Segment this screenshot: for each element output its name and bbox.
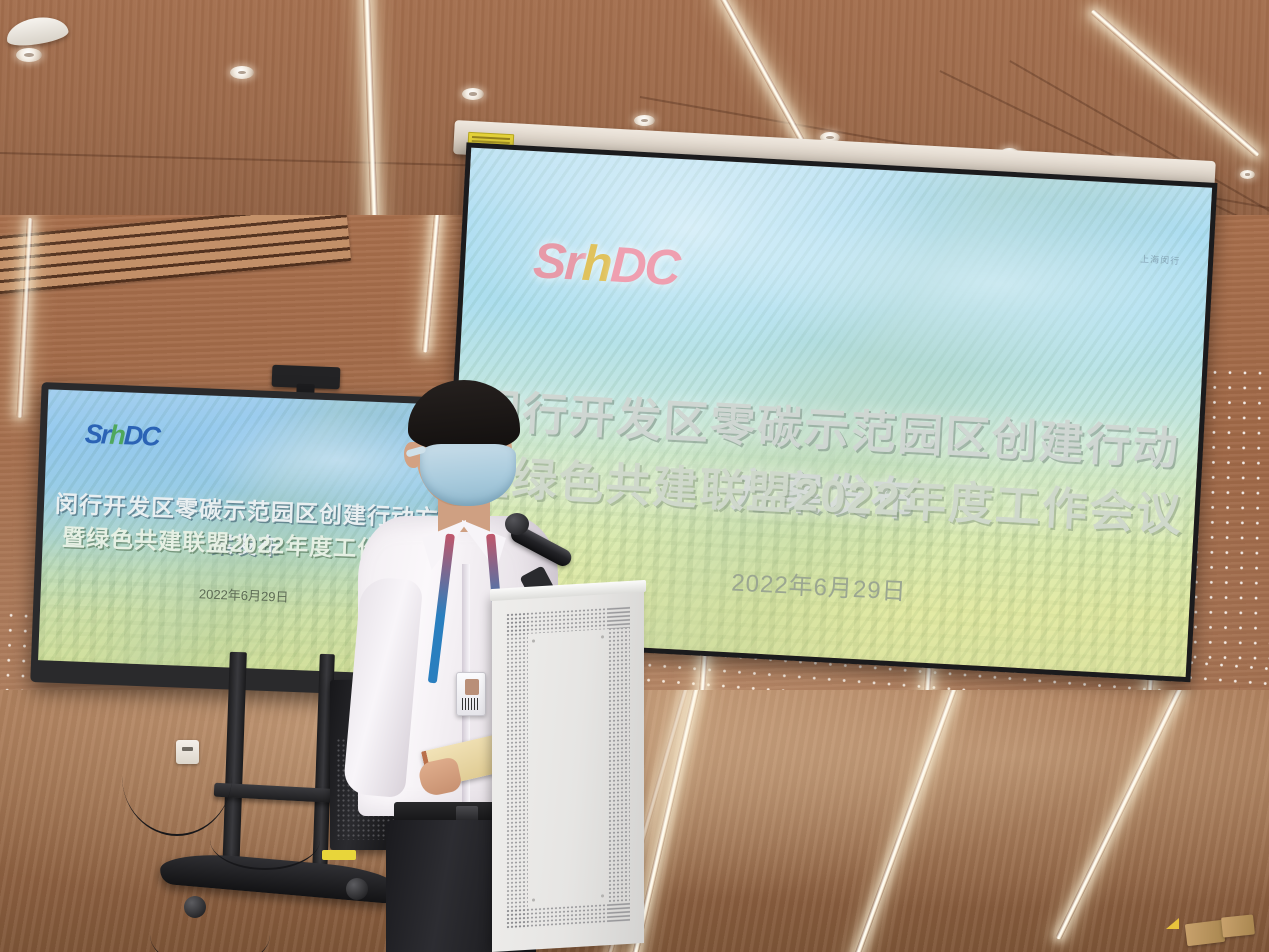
logo-part-2: h [580,234,612,293]
logo-part-1: Sr [84,419,110,451]
logo-part-1: Sr [532,231,584,292]
conference-room-photo: SrhDC 闵行开发区零碳示范园区创建行动方案发布 暨绿色共建联盟2022年度工… [0,0,1269,952]
floor-marker-triangle [1166,918,1179,929]
lectern [492,589,644,952]
floor-plate [1221,914,1255,937]
downlight-icon [16,48,42,62]
cart-cable [210,810,320,870]
slide-smdc-logo: SrhDC [532,231,681,297]
downlight-icon [462,88,484,100]
slide-watermark: 上海闵行 [1140,252,1181,267]
tv-smdc-logo: SrhDC [84,419,159,453]
lectern-screw [601,635,604,638]
downlight-icon [230,66,254,79]
lectern-screw [532,639,535,642]
cart-yellow-tape [322,850,356,860]
logo-part-3: DC [123,420,159,452]
camera-bar-icon [272,365,341,390]
hair [408,380,520,450]
downlight-icon [1240,170,1255,179]
logo-part-3: DC [609,235,680,297]
lectern-screw [601,894,604,897]
wall-power-outlet-left [176,740,199,764]
lectern-perforation-left [506,612,528,929]
id-badge [456,672,486,716]
logo-part-2: h [109,420,125,452]
lectern-perforation-right [608,606,630,923]
projection-screen[interactable]: SrhDC 上海闵行 闵行开发区零碳示范园区创建行动方案发布 暨绿色共建联盟20… [449,120,1219,660]
lectern-screw [532,898,535,901]
floor-plate [1185,920,1225,946]
cart-cable [122,716,232,836]
mic-head [505,513,529,535]
